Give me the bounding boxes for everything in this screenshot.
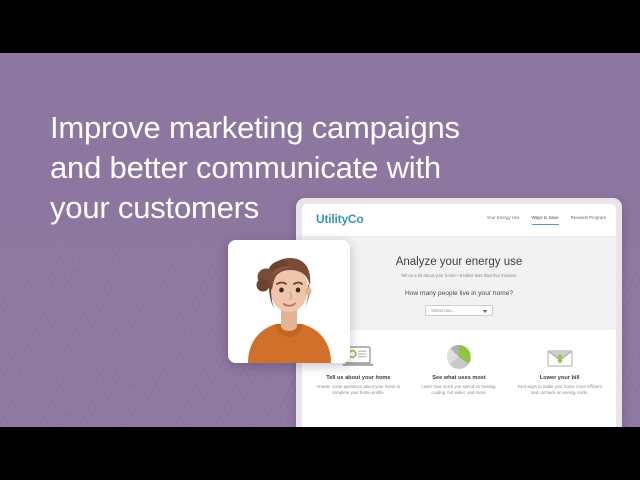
slide-canvas: Improve marketing campaigns and better c… xyxy=(0,0,640,480)
page-title: Improve marketing campaigns and better c… xyxy=(50,108,520,228)
feature-description: Learn how much you spend on heating, coo… xyxy=(414,384,505,396)
nav-item-rewards-program[interactable]: Rewards Program xyxy=(571,215,606,224)
headline-line-1: Improve marketing campaigns xyxy=(50,108,520,148)
slide-body: Improve marketing campaigns and better c… xyxy=(0,53,640,427)
select-value: Select one... xyxy=(431,308,455,313)
feature-title: See what uses most xyxy=(414,375,505,381)
pie-chart-icon xyxy=(414,342,505,372)
portrait-card xyxy=(228,240,350,363)
letterbox-bar-bottom xyxy=(0,427,640,480)
person-illustration xyxy=(228,240,350,363)
headline-line-2: and better communicate with xyxy=(50,148,520,188)
letterbox-bar-top xyxy=(0,0,640,53)
feature-card[interactable]: See what uses most Learn how much you sp… xyxy=(409,342,510,396)
feature-description: Answer some questions about your home to… xyxy=(313,384,404,396)
household-size-select[interactable]: Select one... xyxy=(425,305,493,316)
headline-line-3: your customers xyxy=(50,188,520,228)
feature-title: Tell us about your home xyxy=(313,375,404,381)
feature-description: Find ways to make your home more efficie… xyxy=(514,384,605,396)
feature-title: Lower your bill xyxy=(514,375,605,381)
chevron-down-icon xyxy=(483,310,487,313)
feature-card[interactable]: Lower your bill Find ways to make your h… xyxy=(509,342,610,396)
envelope-savings-icon xyxy=(514,342,605,372)
nav-item-ways-to-save[interactable]: Ways to Save xyxy=(532,215,559,225)
